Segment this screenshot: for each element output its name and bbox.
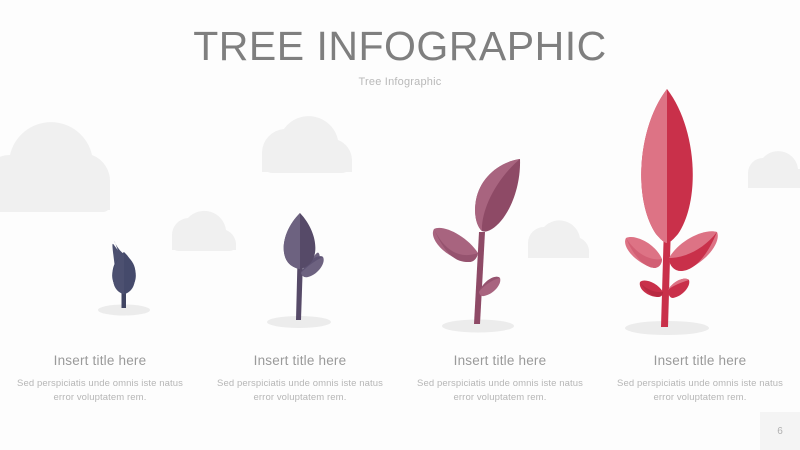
page-number-badge: 6 bbox=[760, 412, 800, 450]
caption-row: Insert title here Sed perspiciatis unde … bbox=[0, 352, 800, 422]
plant-leaf-main-highlight bbox=[284, 213, 300, 269]
plant-leaf-side-large-shade bbox=[626, 238, 662, 268]
shadow-group bbox=[98, 305, 709, 336]
plant-leaf-main-light bbox=[112, 244, 124, 280]
caption-title: Insert title here bbox=[8, 352, 192, 370]
plant-leaf-side-large-shade bbox=[434, 229, 478, 262]
caption-column-1[interactable]: Insert title here Sed perspiciatis unde … bbox=[0, 352, 200, 422]
page-number: 6 bbox=[777, 426, 783, 437]
plant-leaf-side-shade bbox=[301, 256, 323, 273]
plant-leaf-side-small-body bbox=[479, 277, 500, 296]
plant-leaf-side-shade bbox=[640, 282, 663, 297]
plant-leaf-side-large-body bbox=[669, 231, 718, 271]
caption-column-3[interactable]: Insert title here Sed perspiciatis unde … bbox=[400, 352, 600, 422]
plant-leaf-main-body bbox=[641, 89, 693, 243]
plant-leaf-side-large-shade bbox=[669, 232, 717, 271]
page-subtitle: Tree Infographic bbox=[0, 76, 800, 88]
page-title: TREE INFOGRAPHIC bbox=[0, 22, 800, 70]
plant-stem bbox=[474, 232, 485, 324]
plant-leaf-main bbox=[115, 254, 134, 281]
plant-leaf-side-small-shade bbox=[479, 277, 500, 292]
caption-title: Insert title here bbox=[208, 352, 392, 370]
caption-column-2[interactable]: Insert title here Sed perspiciatis unde … bbox=[200, 352, 400, 422]
cloud-group bbox=[0, 116, 800, 258]
caption-body: Sed perspiciatis unde omnis iste natus e… bbox=[8, 377, 192, 405]
caption-body: Sed perspiciatis unde omnis iste natus e… bbox=[208, 377, 392, 405]
plant-shadow bbox=[625, 321, 709, 335]
plant-stem bbox=[122, 268, 127, 308]
plant-shadow bbox=[442, 320, 514, 333]
plant-leaf-side-body bbox=[640, 280, 663, 297]
plant-stage-1 bbox=[112, 241, 136, 308]
slide-header: TREE INFOGRAPHIC Tree Infographic bbox=[0, 22, 800, 88]
plant-leaf-side-shade bbox=[668, 279, 689, 290]
plant-leaf-main-highlight bbox=[113, 252, 124, 294]
plant-leaf-main bbox=[113, 254, 136, 283]
plant-leaf-side-body bbox=[301, 256, 324, 277]
plant-stem bbox=[661, 225, 671, 327]
plant-leaf-main-highlight bbox=[641, 89, 667, 243]
plant-stem bbox=[296, 260, 303, 320]
plant-shadow bbox=[98, 305, 150, 316]
plant-leaf-side bbox=[301, 253, 320, 275]
cloud-icon bbox=[262, 116, 352, 172]
plant-leaf-side-body bbox=[668, 279, 689, 298]
plant-stage-4 bbox=[625, 89, 718, 327]
plant-leaf-main-highlight bbox=[475, 159, 520, 231]
plant-leaf-main-body bbox=[475, 159, 520, 232]
cloud-icon bbox=[172, 211, 236, 250]
plant-stage-3 bbox=[433, 159, 520, 324]
caption-title: Insert title here bbox=[408, 352, 592, 370]
plant-shadow bbox=[267, 316, 331, 328]
cloud-icon bbox=[528, 220, 589, 258]
plant-leaf-side-large-body bbox=[625, 237, 662, 268]
cloud-icon bbox=[0, 122, 110, 210]
plant-leaf-main-outline bbox=[112, 254, 136, 290]
caption-body: Sed perspiciatis unde omnis iste natus e… bbox=[608, 377, 792, 405]
plant-leaf-main-light bbox=[114, 241, 124, 280]
caption-body: Sed perspiciatis unde omnis iste natus e… bbox=[408, 377, 592, 405]
caption-title: Insert title here bbox=[608, 352, 792, 370]
cloud-icon bbox=[748, 151, 800, 188]
plant-stage-2 bbox=[284, 213, 324, 320]
plant-leaf-main-body bbox=[113, 252, 135, 294]
slide-canvas: TREE INFOGRAPHIC Tree Infographic Insert… bbox=[0, 0, 800, 450]
plant-leaf-main-body bbox=[284, 213, 316, 269]
plant-leaf-side-large-body bbox=[433, 228, 478, 262]
